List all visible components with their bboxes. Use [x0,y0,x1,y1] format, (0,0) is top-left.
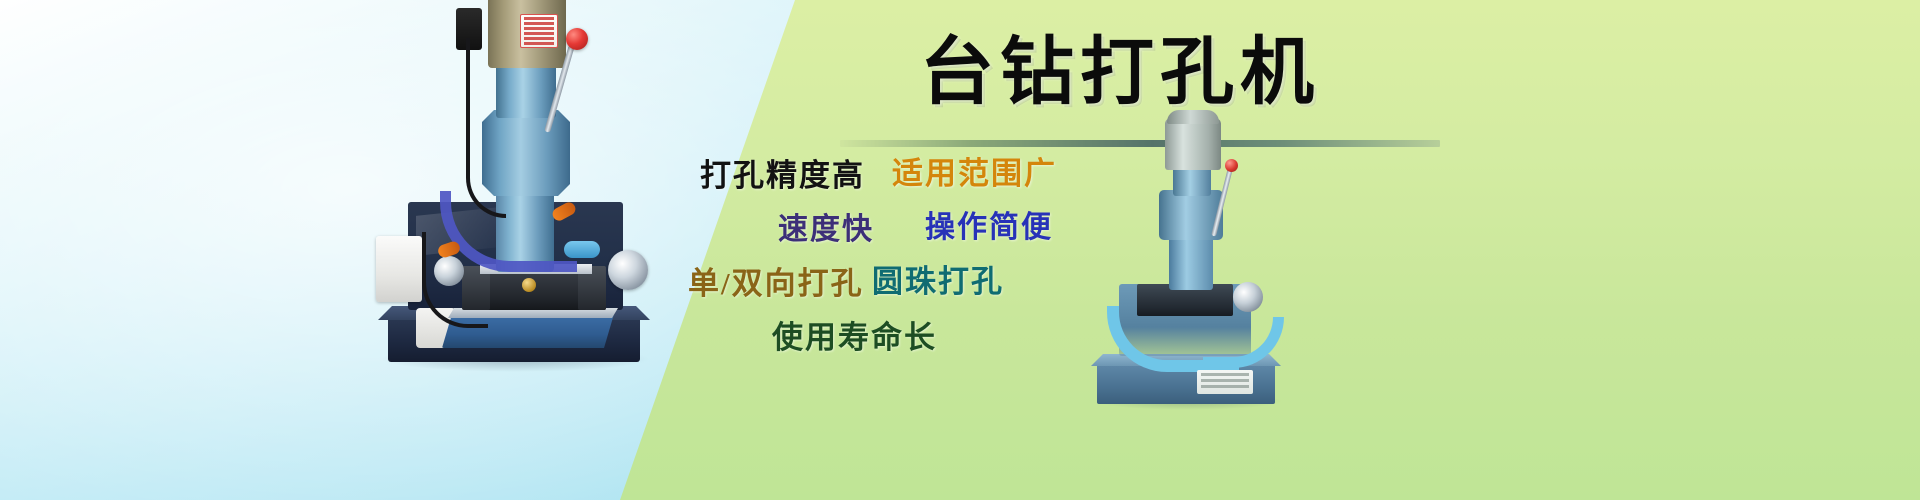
machine-brass-fitting [522,278,536,292]
right-machine-photo [1085,108,1295,408]
feature-item-bead-drill: 圆珠打孔 [872,256,1004,301]
machine2-motor-cap [1167,110,1219,124]
product-banner: 台钻打孔机 打孔精度高 适用范围广 速度快 操作简便 单/双向打孔 圆珠打孔 使… [0,0,1920,500]
machine2-column [1169,234,1213,290]
feature-item-easy-use: 操作简便 [925,202,1053,246]
machine-control-box [376,236,422,302]
machine-blue-pipe [564,241,600,258]
machine2-lever-knob [1225,159,1238,172]
banner-title: 台钻打孔机 [920,36,1480,110]
machine2-neck [1173,166,1211,196]
machine2-spec-label [1197,370,1253,394]
feature-item-drill-modes: 单/双向打孔 [688,258,864,303]
feature-item-longevity: 使用寿命长 [772,312,937,357]
machine2-motor [1165,118,1221,170]
left-machine-photo [370,8,660,368]
machine-spec-label [520,14,558,48]
feature-item-fast: 速度快 [778,204,874,248]
feature-item-precision: 打孔精度高 [700,150,865,195]
feature-item-versatile: 适用范围广 [892,148,1057,193]
machine-handwheel-right [608,250,648,290]
machine-lever-knob [566,28,588,50]
